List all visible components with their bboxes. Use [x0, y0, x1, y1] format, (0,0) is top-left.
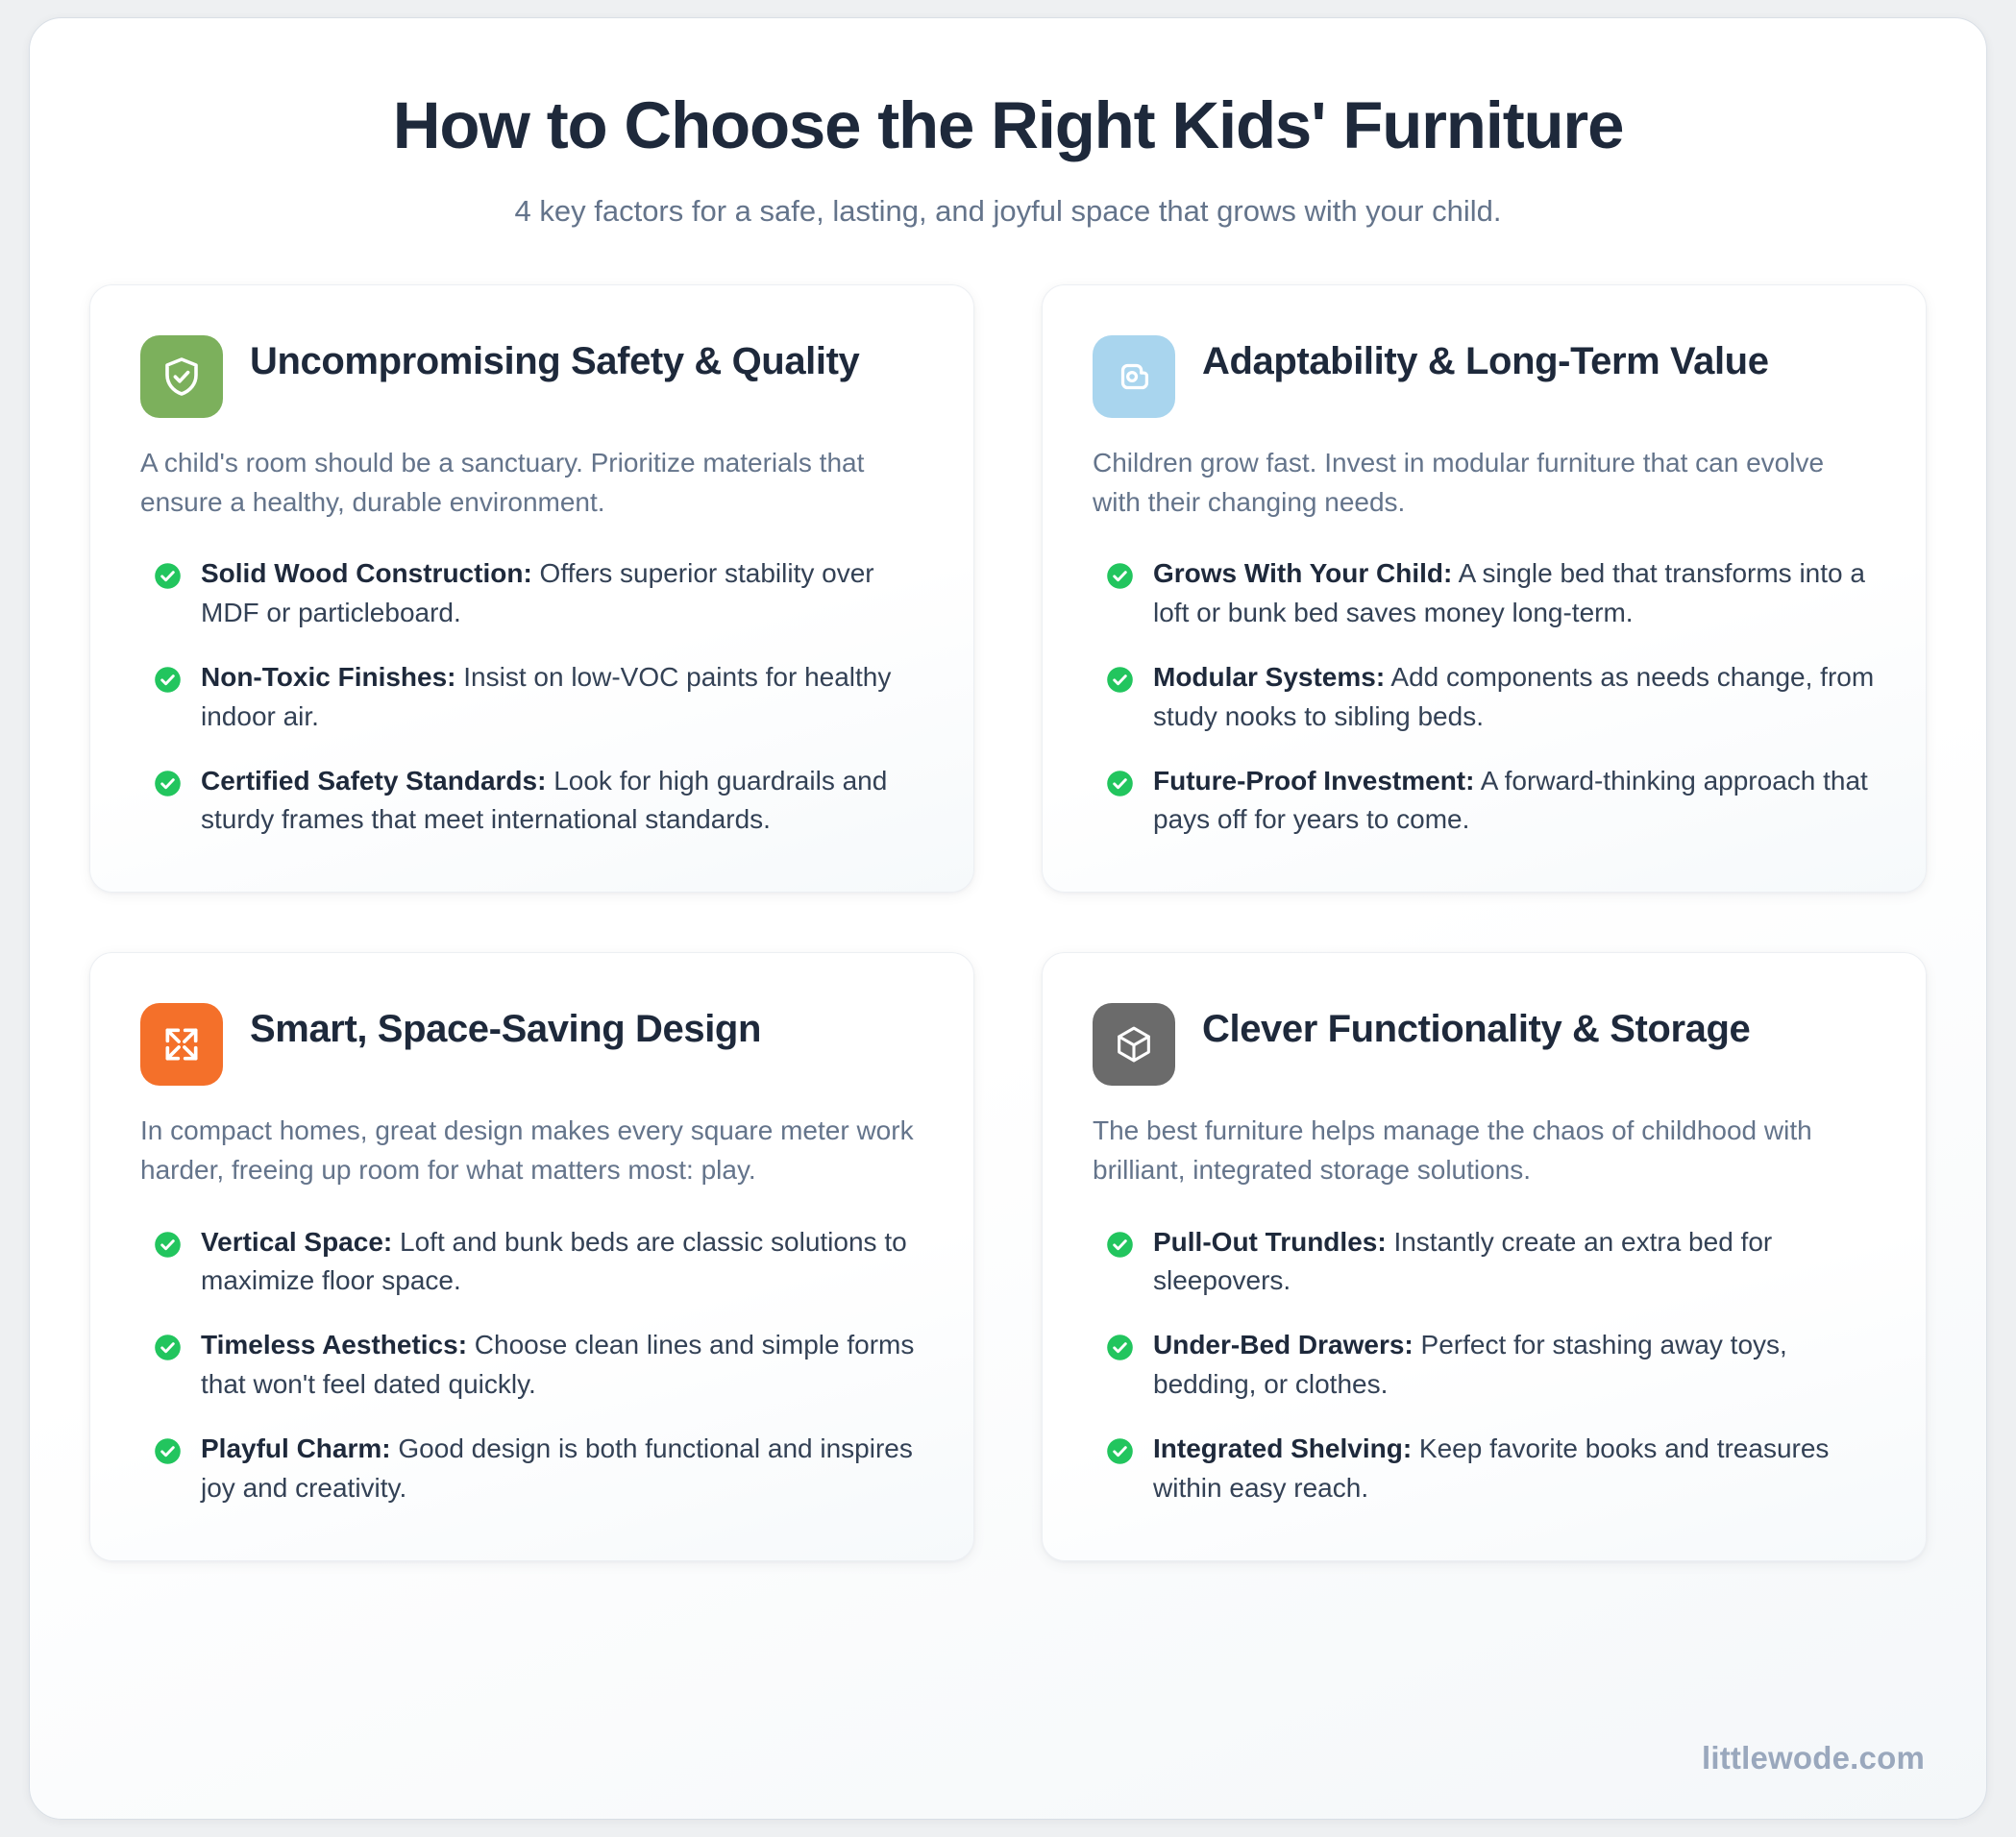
bullet-text: Pull-Out Trundles: Instantly create an e…	[1153, 1223, 1876, 1302]
card-header: Smart, Space-Saving Design	[140, 999, 923, 1086]
check-circle-icon	[154, 1437, 182, 1465]
bullet-lead: Pull-Out Trundles:	[1153, 1227, 1387, 1257]
bullet-text: Certified Safety Standards: Look for hig…	[201, 762, 923, 841]
card-intro: The best furniture helps manage the chao…	[1093, 1111, 1876, 1189]
header: How to Choose the Right Kids' Furniture …	[30, 18, 1986, 232]
bullet-list: Pull-Out Trundles: Instantly create an e…	[1106, 1223, 1876, 1508]
card-header: Clever Functionality & Storage	[1093, 999, 1876, 1086]
list-item: Modular Systems: Add components as needs…	[1106, 658, 1876, 737]
expand-arrows-icon	[160, 1023, 203, 1065]
bullet-lead: Non-Toxic Finishes:	[201, 662, 456, 692]
check-circle-icon	[154, 562, 182, 590]
check-circle-icon	[154, 1231, 182, 1259]
bullet-lead: Playful Charm:	[201, 1433, 391, 1463]
bullet-lead: Modular Systems:	[1153, 662, 1385, 692]
bullet-text: Non-Toxic Finishes: Insist on low-VOC pa…	[201, 658, 923, 737]
bullet-text: Integrated Shelving: Keep favorite books…	[1153, 1430, 1876, 1508]
check-circle-icon	[1106, 666, 1134, 694]
card-adaptability-value: Adaptability & Long-Term Value Children …	[1042, 284, 1927, 894]
icon-tile	[140, 335, 223, 418]
card-header: Uncompromising Safety & Quality	[140, 331, 923, 418]
check-circle-icon	[1106, 1437, 1134, 1465]
card-intro: A child's room should be a sanctuary. Pr…	[140, 443, 923, 522]
bullet-text: Future-Proof Investment: A forward-think…	[1153, 762, 1876, 841]
bullet-list: Vertical Space: Loft and bunk beds are c…	[154, 1223, 923, 1508]
bullet-lead: Integrated Shelving:	[1153, 1433, 1412, 1463]
check-circle-icon	[1106, 770, 1134, 797]
list-item: Playful Charm: Good design is both funct…	[154, 1430, 923, 1508]
bullet-lead: Future-Proof Investment:	[1153, 766, 1474, 796]
bullet-lead: Under-Bed Drawers:	[1153, 1330, 1414, 1359]
bullet-lead: Vertical Space:	[201, 1227, 392, 1257]
card-intro: Children grow fast. Invest in modular fu…	[1093, 443, 1876, 522]
check-circle-icon	[154, 1334, 182, 1361]
bullet-lead: Solid Wood Construction:	[201, 558, 532, 588]
bullet-text: Modular Systems: Add components as needs…	[1153, 658, 1876, 737]
check-circle-icon	[154, 770, 182, 797]
bullet-list: Grows With Your Child: A single bed that…	[1106, 554, 1876, 840]
list-item: Under-Bed Drawers: Perfect for stashing …	[1106, 1326, 1876, 1405]
list-item: Solid Wood Construction: Offers superior…	[154, 554, 923, 633]
bullet-text: Grows With Your Child: A single bed that…	[1153, 554, 1876, 633]
card-safety-quality: Uncompromising Safety & Quality A child'…	[89, 284, 974, 894]
bullet-text: Timeless Aesthetics: Choose clean lines …	[201, 1326, 923, 1405]
icon-tile	[1093, 1003, 1175, 1086]
check-circle-icon	[154, 666, 182, 694]
bullet-text: Under-Bed Drawers: Perfect for stashing …	[1153, 1326, 1876, 1405]
bullet-text: Playful Charm: Good design is both funct…	[201, 1430, 923, 1508]
bullet-text: Solid Wood Construction: Offers superior…	[201, 554, 923, 633]
page-subtitle: 4 key factors for a safe, lasting, and j…	[30, 191, 1986, 232]
list-item: Non-Toxic Finishes: Insist on low-VOC pa…	[154, 658, 923, 737]
list-item: Future-Proof Investment: A forward-think…	[1106, 762, 1876, 841]
icon-tile	[1093, 335, 1175, 418]
list-item: Pull-Out Trundles: Instantly create an e…	[1106, 1223, 1876, 1302]
card-title: Uncompromising Safety & Quality	[250, 331, 859, 386]
bullet-lead: Grows With Your Child:	[1153, 558, 1452, 588]
check-circle-icon	[1106, 1231, 1134, 1259]
shield-check-icon	[159, 354, 205, 400]
baby-monitor-camera-icon	[1112, 355, 1156, 399]
card-title: Smart, Space-Saving Design	[250, 999, 761, 1054]
list-item: Vertical Space: Loft and bunk beds are c…	[154, 1223, 923, 1302]
card-functionality-storage: Clever Functionality & Storage The best …	[1042, 952, 1927, 1561]
page-title: How to Choose the Right Kids' Furniture	[30, 89, 1986, 162]
bullet-lead: Certified Safety Standards:	[201, 766, 546, 796]
bullet-list: Solid Wood Construction: Offers superior…	[154, 554, 923, 840]
list-item: Integrated Shelving: Keep favorite books…	[1106, 1430, 1876, 1508]
icon-tile	[140, 1003, 223, 1086]
card-title: Clever Functionality & Storage	[1202, 999, 1750, 1054]
cards-grid: Uncompromising Safety & Quality A child'…	[89, 284, 1927, 1561]
infographic-frame: How to Choose the Right Kids' Furniture …	[29, 17, 1987, 1820]
check-circle-icon	[1106, 562, 1134, 590]
card-intro: In compact homes, great design makes eve…	[140, 1111, 923, 1189]
card-title: Adaptability & Long-Term Value	[1202, 331, 1769, 386]
check-circle-icon	[1106, 1334, 1134, 1361]
card-header: Adaptability & Long-Term Value	[1093, 331, 1876, 418]
watermark: littlewode.com	[1702, 1740, 1925, 1776]
cube-box-icon	[1112, 1022, 1156, 1066]
card-space-saving-design: Smart, Space-Saving Design In compact ho…	[89, 952, 974, 1561]
list-item: Certified Safety Standards: Look for hig…	[154, 762, 923, 841]
list-item: Grows With Your Child: A single bed that…	[1106, 554, 1876, 633]
bullet-text: Vertical Space: Loft and bunk beds are c…	[201, 1223, 923, 1302]
list-item: Timeless Aesthetics: Choose clean lines …	[154, 1326, 923, 1405]
bullet-lead: Timeless Aesthetics:	[201, 1330, 467, 1359]
